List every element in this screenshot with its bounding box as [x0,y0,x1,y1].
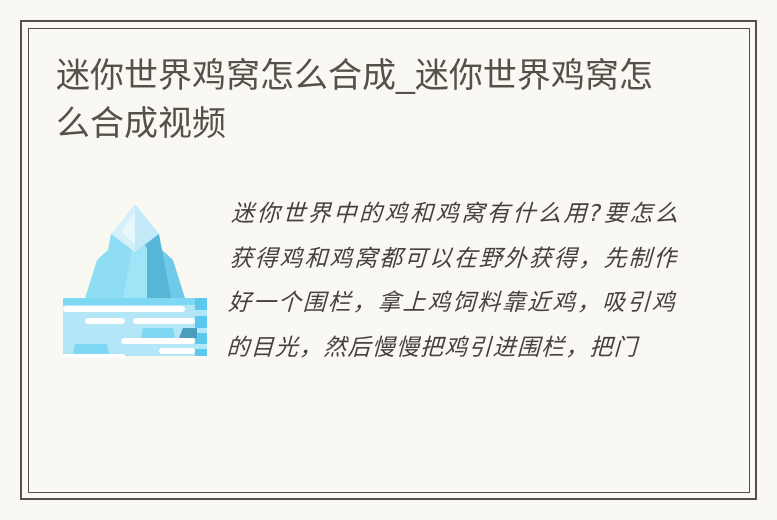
page-title: 迷你世界鸡窝怎么合成_迷你世界鸡窝怎么合成视频 [56,52,666,148]
article-body-row: 迷你世界中的鸡和鸡窝有什么用?要怎么获得鸡和鸡窝都可以在野外获得，先制作好一个围… [30,192,727,490]
article-body-text: 迷你世界中的鸡和鸡窝有什么用?要怎么获得鸡和鸡窝都可以在野外获得，先制作好一个围… [222,192,680,490]
article-content: 迷你世界鸡窝怎么合成_迷你世界鸡窝怎么合成视频 [30,30,727,490]
iceberg-illustration [55,198,215,358]
